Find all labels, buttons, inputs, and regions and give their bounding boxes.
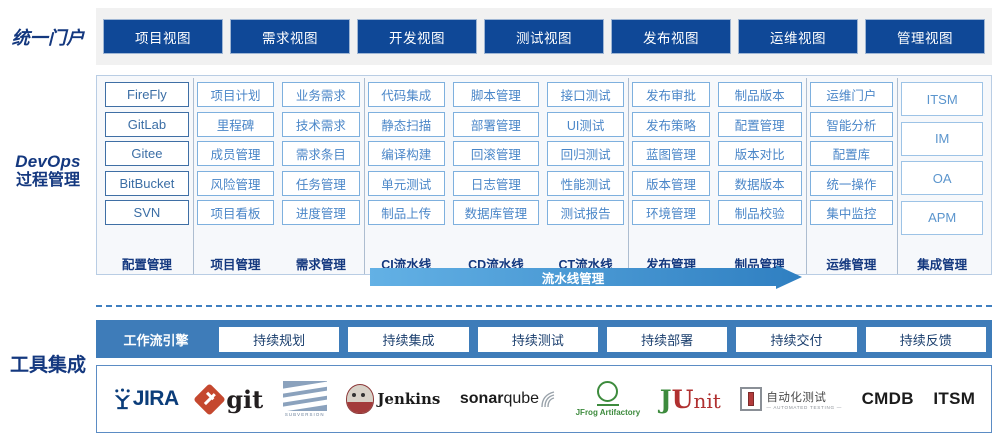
subversion-logo: SUBVERSION	[283, 376, 327, 422]
jenkins-icon	[346, 384, 374, 414]
devops-column-grid: FireFlyGitLabGiteeBitBucketSVN项目计划里程碑成员管…	[97, 76, 991, 248]
automated-testing-logo-text-cn: 自动化测试	[766, 389, 842, 405]
cmdb-logo: CMDB	[862, 376, 914, 422]
devops-column: 代码集成静态扫描编译构建单元测试制品上传	[364, 82, 449, 248]
devops-capability-cell[interactable]: 制品版本	[718, 82, 802, 107]
workflow-stage-button[interactable]: 持续部署	[607, 327, 727, 352]
subversion-logo-text: SUBVERSION	[285, 412, 325, 417]
devops-capability-cell[interactable]: 成员管理	[197, 141, 274, 166]
devops-capability-cell[interactable]: 发布审批	[632, 82, 709, 107]
devops-capability-cell[interactable]: APM	[901, 201, 983, 235]
devops-column: FireFlyGitLabGiteeBitBucketSVN	[101, 82, 193, 248]
portal-panel: 项目视图需求视图开发视图测试视图发布视图运维视图管理视图	[96, 8, 992, 65]
devops-column-footer: 需求管理	[278, 254, 363, 273]
section-label-tools-text: 工具集成	[0, 355, 96, 377]
devops-capability-cell[interactable]: 项目计划	[197, 82, 274, 107]
workflow-bar: 工作流引擎 持续规划持续集成持续测试持续部署持续交付持续反馈	[96, 320, 992, 358]
devops-capability-cell[interactable]: OA	[901, 161, 983, 195]
sonar-waves-icon	[540, 391, 556, 408]
devops-capability-cell[interactable]: 配置库	[810, 141, 894, 166]
portal-view-button[interactable]: 发布视图	[612, 20, 730, 53]
automated-testing-logo-text-en: — AUTOMATED TESTING —	[766, 405, 842, 410]
sonarqube-logo-text-bold: sonar	[460, 390, 504, 408]
devops-capability-cell[interactable]: 蓝图管理	[632, 141, 709, 166]
devops-column-footer: 项目管理	[193, 254, 278, 273]
workflow-stage-button[interactable]: 持续反馈	[866, 327, 986, 352]
portal-view-button[interactable]: 测试视图	[485, 20, 603, 53]
devops-column: 业务需求技术需求需求条目任务管理进度管理	[278, 82, 363, 248]
jenkins-logo: Jenkins	[346, 376, 440, 422]
git-icon	[193, 383, 226, 416]
devops-panel: FireFlyGitLabGiteeBitBucketSVN项目计划里程碑成员管…	[96, 75, 992, 275]
pipeline-arrow-label: 流水线管理	[370, 265, 776, 289]
jfrog-artifactory-logo: JFrog Artifactory	[576, 376, 641, 422]
portal-view-button[interactable]: 管理视图	[866, 20, 984, 53]
portal-view-button[interactable]: 需求视图	[231, 20, 349, 53]
devops-capability-cell[interactable]: 编译构建	[368, 141, 445, 166]
devops-capability-cell[interactable]: 风险管理	[197, 171, 274, 196]
devops-capability-cell[interactable]: GitLab	[105, 112, 189, 137]
git-logo-text: git	[226, 385, 263, 414]
devops-capability-cell[interactable]: 代码集成	[368, 82, 445, 107]
devops-capability-cell[interactable]: 制品校验	[718, 200, 802, 225]
section-label-tools: 工具集成	[0, 355, 96, 377]
devops-capability-cell[interactable]: 版本对比	[718, 141, 802, 166]
workflow-stage-button[interactable]: 持续集成	[348, 327, 468, 352]
devops-capability-cell[interactable]: ITSM	[901, 82, 983, 116]
section-label-devops-line2: 过程管理	[0, 172, 96, 190]
devops-capability-cell[interactable]: 静态扫描	[368, 112, 445, 137]
devops-capability-cell[interactable]: 进度管理	[282, 200, 359, 225]
jira-icon	[113, 388, 132, 410]
section-label-devops-line1: DevOps	[0, 152, 96, 172]
devops-capability-cell[interactable]: 回归测试	[547, 141, 624, 166]
devops-capability-cell[interactable]: 部署管理	[453, 112, 539, 137]
devops-capability-cell[interactable]: 回滚管理	[453, 141, 539, 166]
devops-capability-cell[interactable]: 环境管理	[632, 200, 709, 225]
workflow-engine-label: 工作流引擎	[102, 330, 210, 349]
git-logo: git	[198, 376, 263, 422]
devops-capability-cell[interactable]: 数据库管理	[453, 200, 539, 225]
pipeline-arrow: 流水线管理	[370, 265, 802, 289]
devops-column-footer: 配置管理	[101, 254, 193, 273]
devops-capability-cell[interactable]: BitBucket	[105, 171, 189, 196]
devops-column-footer: 集成管理	[897, 254, 987, 273]
devops-column: 脚本管理部署管理回滚管理日志管理数据库管理	[449, 82, 543, 248]
junit-logo-text-j: J	[660, 385, 672, 414]
devops-capability-cell[interactable]: 接口测试	[547, 82, 624, 107]
devops-capability-cell[interactable]: IM	[901, 122, 983, 156]
junit-logo-text-nit: nit	[693, 389, 720, 413]
jenkins-logo-text: Jenkins	[377, 390, 440, 408]
devops-capability-cell[interactable]: 性能测试	[547, 171, 624, 196]
portal-view-button[interactable]: 运维视图	[739, 20, 857, 53]
jfrog-icon	[597, 381, 618, 402]
devops-capability-cell[interactable]: 任务管理	[282, 171, 359, 196]
devops-column-footer: 运维管理	[806, 254, 898, 273]
automated-testing-icon	[740, 387, 762, 411]
portal-button-row: 项目视图需求视图开发视图测试视图发布视图运维视图管理视图	[96, 8, 992, 65]
portal-view-button[interactable]: 开发视图	[358, 20, 476, 53]
junit-logo: JUnit	[660, 376, 721, 422]
devops-capability-cell[interactable]: 脚本管理	[453, 82, 539, 107]
devops-capability-cell[interactable]: 日志管理	[453, 171, 539, 196]
devops-capability-cell[interactable]: 配置管理	[718, 112, 802, 137]
devops-column: 运维门户智能分析配置库统一操作集中监控	[806, 82, 898, 248]
devops-column: 接口测试UI测试回归测试性能测试测试报告	[543, 82, 628, 248]
devops-capability-cell[interactable]: 集中监控	[810, 200, 894, 225]
subversion-icon	[283, 381, 327, 411]
devops-capability-cell[interactable]: 统一操作	[810, 171, 894, 196]
devops-capability-cell[interactable]: FireFly	[105, 82, 189, 107]
devops-capability-cell[interactable]: 版本管理	[632, 171, 709, 196]
devops-capability-cell[interactable]: 业务需求	[282, 82, 359, 107]
tool-logos-panel: JIRAgitSUBVERSIONJenkinssonarqubeJFrog A…	[96, 365, 992, 433]
workflow-stage-button[interactable]: 持续交付	[736, 327, 856, 352]
devops-capability-cell[interactable]: 里程碑	[197, 112, 274, 137]
devops-capability-cell[interactable]: 智能分析	[810, 112, 894, 137]
portal-view-button[interactable]: 项目视图	[104, 20, 222, 53]
section-label-devops: DevOps 过程管理	[0, 152, 96, 190]
section-divider	[96, 305, 992, 307]
devops-column: 制品版本配置管理版本对比数据版本制品校验	[714, 82, 806, 248]
workflow-stage-button[interactable]: 持续测试	[478, 327, 598, 352]
devops-capability-cell[interactable]: SVN	[105, 200, 189, 225]
devops-capability-cell[interactable]: 发布策略	[632, 112, 709, 137]
devops-capability-cell[interactable]: Gitee	[105, 141, 189, 166]
devops-capability-cell[interactable]: 项目看板	[197, 200, 274, 225]
jfrog-bar-icon	[597, 404, 619, 406]
devops-capability-cell[interactable]: 数据版本	[718, 171, 802, 196]
jira-logo: JIRA	[113, 376, 179, 422]
sonarqube-logo-text-light: qube	[503, 390, 539, 408]
devops-capability-cell[interactable]: UI测试	[547, 112, 624, 137]
workflow-stage-button[interactable]: 持续规划	[219, 327, 339, 352]
section-label-portal-text: 统一门户	[0, 28, 96, 49]
itsm-logo-text: ITSM	[933, 389, 975, 409]
devops-capability-cell[interactable]: 单元测试	[368, 171, 445, 196]
jfrog-logo-text: JFrog Artifactory	[576, 408, 641, 417]
devops-capability-cell[interactable]: 技术需求	[282, 112, 359, 137]
devops-capability-cell[interactable]: 制品上传	[368, 200, 445, 225]
automated-testing-logo: 自动化测试— AUTOMATED TESTING —	[740, 376, 842, 422]
junit-logo-text-u: U	[672, 385, 694, 414]
devops-capability-cell[interactable]: 测试报告	[547, 200, 624, 225]
cmdb-logo-text: CMDB	[862, 389, 914, 409]
itsm-logo: ITSM	[933, 376, 975, 422]
jira-logo-text: JIRA	[133, 387, 179, 411]
devops-column: 发布审批发布策略蓝图管理版本管理环境管理	[628, 82, 713, 248]
devops-capability-cell[interactable]: 需求条目	[282, 141, 359, 166]
section-label-portal: 统一门户	[0, 28, 96, 49]
sonarqube-logo: sonarqube	[460, 376, 556, 422]
devops-column: ITSMIMOAAPM	[897, 82, 987, 248]
devops-column: 项目计划里程碑成员管理风险管理项目看板	[193, 82, 278, 248]
devops-architecture-diagram: 统一门户 项目视图需求视图开发视图测试视图发布视图运维视图管理视图 DevOps…	[0, 0, 1000, 439]
devops-capability-cell[interactable]: 运维门户	[810, 82, 894, 107]
